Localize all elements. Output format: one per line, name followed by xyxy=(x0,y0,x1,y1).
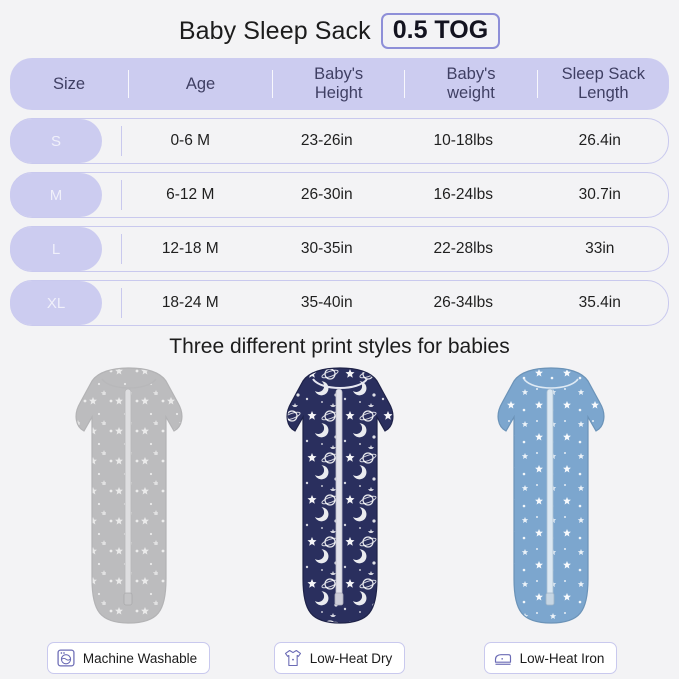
size-cell: M xyxy=(11,173,121,217)
care-slot: Low-Heat Dry xyxy=(237,642,442,674)
height-value: 30-35in xyxy=(259,240,396,258)
size-cell: L xyxy=(11,227,121,271)
weight-value: 22-28lbs xyxy=(395,240,532,258)
table-row: L 12-18 M 30-35in 22-28lbs 33in xyxy=(10,226,669,272)
table-row: S 0-6 M 23-26in 10-18lbs 26.4in xyxy=(10,118,669,164)
weight-value: 16-24lbs xyxy=(395,186,532,204)
product-gallery xyxy=(0,365,679,640)
care-badge-machine-washable: Machine Washable xyxy=(47,642,210,674)
height-value: 23-26in xyxy=(259,132,396,150)
table-row: M 6-12 M 26-30in 16-24lbs 30.7in xyxy=(10,172,669,218)
table-row: XL 18-24 M 35-40in 26-34lbs 35.4in xyxy=(10,280,669,326)
care-badge-label: Machine Washable xyxy=(83,651,197,666)
care-badge-label: Low-Heat Dry xyxy=(310,651,393,666)
length-value: 30.7in xyxy=(532,186,669,204)
machine-washable-icon xyxy=(56,648,76,668)
age-value: 0-6 M xyxy=(122,132,259,150)
header-divider xyxy=(128,70,129,98)
low-heat-iron-icon xyxy=(493,648,513,668)
size-badge: M xyxy=(10,173,102,217)
blue-star-print-sleep-sack xyxy=(476,365,626,633)
title-text: Baby Sleep Sack xyxy=(179,17,371,46)
length-value: 33in xyxy=(532,240,669,258)
column-header-weight: Baby's weight xyxy=(405,65,536,103)
low-heat-dry-icon xyxy=(283,648,303,668)
column-header-height: Baby's Height xyxy=(273,65,404,103)
height-value: 35-40in xyxy=(259,294,396,312)
age-value: 18-24 M xyxy=(122,294,259,312)
age-value: 12-18 M xyxy=(122,240,259,258)
size-badge: XL xyxy=(10,281,102,325)
care-badge-low-heat-dry: Low-Heat Dry xyxy=(274,642,406,674)
length-value: 35.4in xyxy=(532,294,669,312)
header-divider xyxy=(272,70,273,98)
care-slot: Machine Washable xyxy=(26,642,231,674)
care-badge-label: Low-Heat Iron xyxy=(520,651,605,666)
care-slot: Low-Heat Iron xyxy=(448,642,653,674)
product-image-grey[interactable] xyxy=(26,365,231,640)
size-badge: L xyxy=(10,227,102,271)
column-header-age: Age xyxy=(129,75,272,94)
age-value: 6-12 M xyxy=(122,186,259,204)
length-value: 26.4in xyxy=(532,132,669,150)
height-value: 26-30in xyxy=(259,186,396,204)
product-image-navy[interactable] xyxy=(237,365,442,640)
column-header-size: Size xyxy=(10,75,128,94)
size-cell: S xyxy=(11,119,121,163)
navy-space-print-sleep-sack xyxy=(265,365,415,633)
grey-star-print-sleep-sack xyxy=(54,365,204,633)
header-divider xyxy=(404,70,405,98)
care-instructions: Machine Washable Low-Heat Dry Low-Heat I… xyxy=(0,642,679,674)
size-chart-table: Size Age Baby's Height Baby's weight Sle… xyxy=(10,58,669,326)
product-image-blue[interactable] xyxy=(448,365,653,640)
tog-badge: 0.5 TOG xyxy=(381,13,500,49)
page-title: Baby Sleep Sack 0.5 TOG xyxy=(0,0,679,48)
size-cell: XL xyxy=(11,281,121,325)
column-header-length: Sleep Sack Length xyxy=(538,65,669,103)
product-infographic: Baby Sleep Sack 0.5 TOG Size Age Baby's … xyxy=(0,0,679,679)
header-divider xyxy=(537,70,538,98)
size-badge: S xyxy=(10,119,102,163)
weight-value: 26-34lbs xyxy=(395,294,532,312)
table-header-row: Size Age Baby's Height Baby's weight Sle… xyxy=(10,58,669,110)
weight-value: 10-18lbs xyxy=(395,132,532,150)
section-subtitle: Three different print styles for babies xyxy=(0,335,679,359)
care-badge-low-heat-iron: Low-Heat Iron xyxy=(484,642,618,674)
